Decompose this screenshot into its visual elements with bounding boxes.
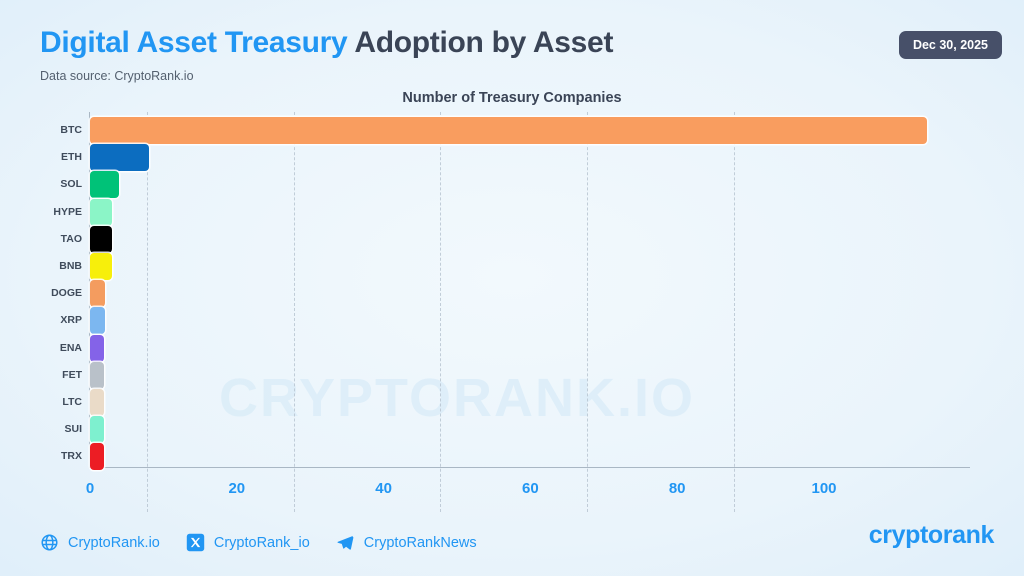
y-axis-label-btc: BTC: [2, 117, 82, 144]
bar-sol[interactable]: [90, 171, 119, 198]
bar-xrp[interactable]: [90, 307, 105, 334]
x-tick-60: 60: [522, 480, 539, 497]
bar-hype[interactable]: [90, 199, 112, 226]
y-axis-label-eth: ETH: [2, 144, 82, 171]
chart-plot: CRYPTORANK.IO BTCETHSOLHYPETAOBNBDOGEXRP…: [0, 112, 1024, 512]
bar-bnb[interactable]: [90, 253, 112, 280]
y-axis-label-xrp: XRP: [2, 307, 82, 334]
footer-link-label: CryptoRank.io: [68, 535, 160, 551]
page-title-rest: Adoption by Asset: [347, 26, 613, 59]
bar-row[interactable]: [90, 280, 970, 307]
x-tick-40: 40: [375, 480, 392, 497]
telegram-icon: [336, 533, 355, 552]
y-axis-label-doge: DOGE: [2, 280, 82, 307]
x-tick-20: 20: [228, 480, 245, 497]
bar-row[interactable]: [90, 307, 970, 334]
x-tick-80: 80: [669, 480, 686, 497]
bar-ena[interactable]: [90, 335, 104, 362]
y-axis-label-tao: TAO: [2, 226, 82, 253]
bar-row[interactable]: [90, 389, 970, 416]
chart-title: Number of Treasury Companies: [0, 90, 1024, 106]
y-axis-label-bnb: BNB: [2, 253, 82, 280]
bar-trx[interactable]: [90, 443, 104, 470]
footer-link-cryptoranknews[interactable]: CryptoRankNews: [336, 533, 477, 552]
bar-row[interactable]: [90, 335, 970, 362]
footer-link-label: CryptoRankNews: [364, 535, 477, 551]
header: Digital Asset Treasury Adoption by Asset…: [40, 26, 613, 83]
page-title: Digital Asset Treasury Adoption by Asset: [40, 26, 613, 60]
brand-logo: cryptorank: [869, 521, 994, 550]
y-axis-label-ltc: LTC: [2, 389, 82, 416]
y-axis-label-trx: TRX: [2, 443, 82, 470]
footer-socials: CryptoRank.ioCryptoRank_ioCryptoRankNews: [40, 533, 477, 552]
data-source-label: Data source: CryptoRank.io: [40, 69, 613, 83]
bar-row[interactable]: [90, 144, 970, 171]
y-axis-label-sol: SOL: [2, 171, 82, 198]
bar-row[interactable]: [90, 199, 970, 226]
bar-row[interactable]: [90, 171, 970, 198]
bar-row[interactable]: [90, 117, 970, 144]
bar-sui[interactable]: [90, 416, 104, 443]
y-axis-label-ena: ENA: [2, 335, 82, 362]
bar-eth[interactable]: [90, 144, 149, 171]
globe-icon: [40, 533, 59, 552]
date-badge: Dec 30, 2025: [899, 31, 1002, 59]
x-tick-100: 100: [811, 480, 836, 497]
bar-btc[interactable]: [90, 117, 927, 144]
x-twitter-icon: [186, 533, 205, 552]
footer-link-cryptorank-io[interactable]: CryptoRank_io: [186, 533, 310, 552]
bar-row[interactable]: [90, 443, 970, 470]
y-axis-label-hype: HYPE: [2, 199, 82, 226]
x-tick-0: 0: [86, 480, 94, 497]
bar-row[interactable]: [90, 362, 970, 389]
page-title-highlight: Digital Asset Treasury: [40, 26, 347, 59]
y-axis-label-sui: SUI: [2, 416, 82, 443]
bar-row[interactable]: [90, 253, 970, 280]
bar-fet[interactable]: [90, 362, 104, 389]
bar-tao[interactable]: [90, 226, 112, 253]
bar-doge[interactable]: [90, 280, 105, 307]
bar-row[interactable]: [90, 226, 970, 253]
footer-link-cryptorank-io[interactable]: CryptoRank.io: [40, 533, 160, 552]
footer-link-label: CryptoRank_io: [214, 535, 310, 551]
bar-ltc[interactable]: [90, 389, 104, 416]
y-axis-label-fet: FET: [2, 362, 82, 389]
bar-row[interactable]: [90, 416, 970, 443]
